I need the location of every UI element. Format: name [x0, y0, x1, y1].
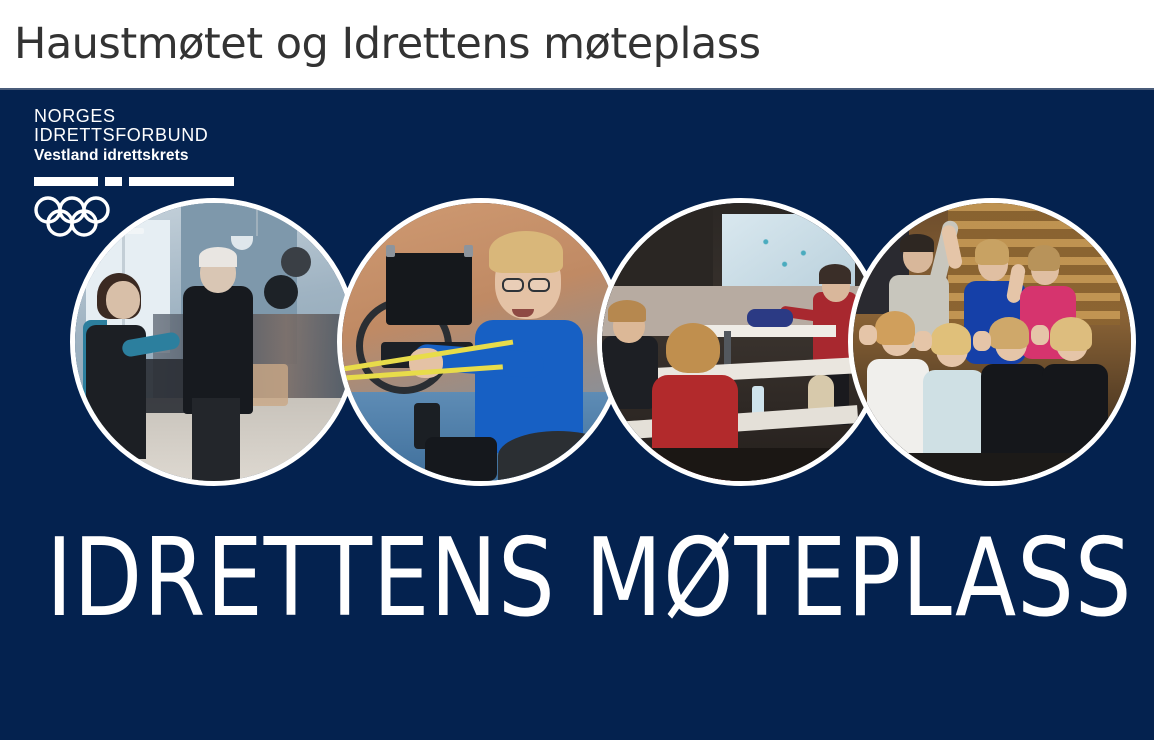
- logo-line-idrettsforbund: IDRETTSFORBUND: [34, 126, 264, 145]
- page-heading: Haustmøtet og Idrettens møteplass: [0, 0, 1154, 88]
- photo-circle-strip: [0, 198, 1154, 490]
- logo-bar-short: [105, 177, 122, 186]
- logo-line-norges: NORGES: [34, 107, 264, 126]
- photo-circle-training: [337, 198, 625, 486]
- logo-bar-long: [129, 177, 234, 186]
- logo-bars: [34, 177, 264, 186]
- logo-line-vestland: Vestland idrettskrets: [34, 146, 264, 166]
- photo-circle-meeting: [70, 198, 358, 486]
- banner-wordmark: IDRETTENS MØTEPLASS: [46, 525, 1108, 633]
- page-root: Haustmøtet og Idrettens møteplass NORGES…: [0, 0, 1154, 753]
- event-banner: NORGES IDRETTSFORBUND Vestland idrettskr…: [0, 88, 1154, 740]
- photo-circle-lecture: [597, 198, 885, 486]
- photo-circle-team: [848, 198, 1136, 486]
- page-title: Haustmøtet og Idrettens møteplass: [0, 19, 761, 69]
- logo-bar-medium: [34, 177, 98, 186]
